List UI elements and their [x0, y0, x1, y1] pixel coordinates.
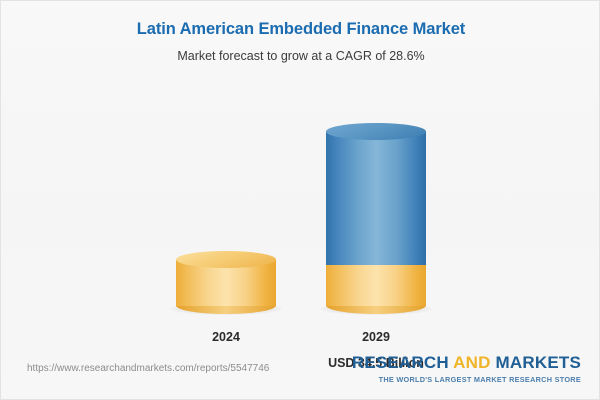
market-forecast-infographic: Latin American Embedded Finance Market M…: [0, 0, 600, 400]
brand-logo-word-markets: MARKETS: [496, 353, 581, 372]
category-label-2029: 2029: [296, 330, 456, 344]
category-label-2024: 2024: [146, 330, 306, 344]
source-url-link[interactable]: https://www.researchandmarkets.com/repor…: [27, 363, 269, 374]
brand-logo-word-research: RESEARCH: [352, 353, 449, 372]
chart-title: Latin American Embedded Finance Market: [1, 19, 600, 39]
brand-logo: RESEARCH AND MARKETS THE WORLD'S LARGEST…: [352, 353, 581, 384]
brand-logo-word-and: AND: [453, 353, 490, 372]
chart-header: Latin American Embedded Finance Market M…: [1, 19, 600, 64]
chart-subtitle: Market forecast to grow at a CAGR of 28.…: [1, 48, 600, 64]
brand-logo-wordmark: RESEARCH AND MARKETS: [352, 353, 581, 373]
bar-cylinder-2029: [326, 123, 426, 306]
cylinder-body: [326, 131, 426, 265]
bar-cylinder-2024: [176, 251, 276, 306]
brand-logo-tagline: THE WORLD'S LARGEST MARKET RESEARCH STOR…: [352, 375, 581, 384]
cylinder-top-ellipse: [326, 123, 426, 140]
footer: https://www.researchandmarkets.com/repor…: [1, 347, 600, 399]
bar-segment-blue-2029: [326, 123, 426, 265]
chart-plot-area: USD 9.8 Billion 2024 USD 34.5 Billion: [1, 81, 600, 346]
cylinder-top-ellipse: [176, 251, 276, 268]
bar-segment-yellow-2024: [176, 251, 276, 306]
